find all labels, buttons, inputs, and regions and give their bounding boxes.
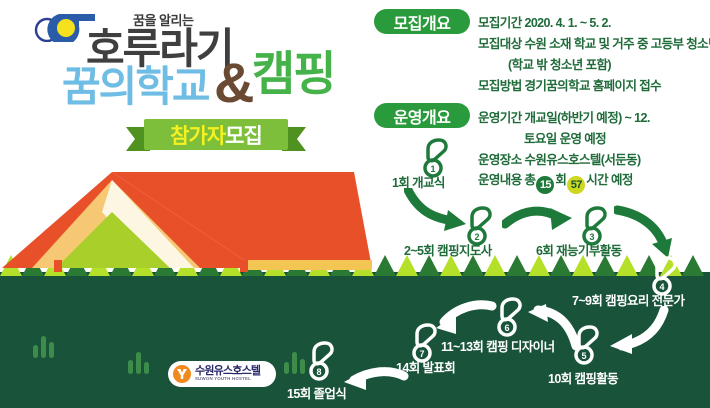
grass-tuft-3 [284,352,310,374]
recruit-line-2: 모집대상 수원 소재 학교 및 거주 중 고등부 청소년 [478,33,710,52]
ribbon-body: 참가자모집 [144,119,288,150]
recruit-section-pill: 모집개요 [374,9,470,34]
ampersand: & [214,55,254,111]
title-line-2: 꿈의학교 [62,66,209,108]
operate-line-2: 토요일 운영 예정 [524,128,606,147]
ribbon-rest-text: 모집 [225,125,262,148]
svg-text:8: 8 [316,367,321,377]
flow-arrow-6 [432,300,500,336]
operate-content-suffix: 시간 예정 [586,173,632,187]
title-line-3: 캠핑 [252,50,334,97]
suwon-youth-hostel-logo: 수원유스호스텔 SUWON YOUTH HOSTEL [168,361,276,387]
flow-label-8: 15회 졸업식 [287,383,346,402]
flow-label-4: 7~9회 캠핑요리 전문가 [572,290,684,309]
poster-root: 꿈을 알리는 호루라기 꿈의학교 & 캠핑 참가자모집 모집개요 운영개요 모집… [0,0,710,408]
operate-content-prefix: 운영내용 총 [478,173,535,187]
grass-tuft-2 [128,352,154,374]
svg-text:5: 5 [581,351,586,361]
operate-content-mid: 회 [555,173,566,187]
operate-section-pill: 운영개요 [374,103,470,128]
flow-arrow-2 [502,206,578,238]
recruit-line-3: (학교 밖 청소년 포함) [508,54,611,73]
operate-content-line: 운영내용 총15회57시간 예정 [478,169,633,194]
flow-pin-6: 6 [493,296,523,338]
operate-line-1: 운영기간 개교일(하반기 예정) ~ 12. [478,107,650,126]
hostel-mark-icon [173,365,191,383]
recruit-line-4: 모집방법 경기꿈의학교 홈페이지 접수 [478,75,661,94]
participant-recruit-ribbon: 참가자모집 [126,119,306,157]
operate-line-3: 운영장소 수원유스호스텔(서둔동) [478,149,641,168]
operate-hours-chip: 57 [567,176,585,194]
flow-pin-5: 5 [570,324,600,366]
hostel-name-english: SUWON YOUTH HOSTEL [195,377,260,382]
flow-label-2: 2~5회 캠핑지도사 [404,240,492,259]
flow-label-5: 10회 캠핑활동 [548,368,618,387]
operate-session-count-chip: 15 [536,176,554,194]
grass-tuft-1 [33,336,59,358]
flow-label-3: 6회 재능기부활동 [536,240,622,259]
flow-label-7: 14회 발표회 [396,357,455,376]
flow-label-6: 11~13회 캠핑 디자이너 [441,336,554,355]
recruit-line-1: 모집기간 2020. 4. 1. ~ 5. 2. [478,12,611,31]
flow-label-1: 1회 개교식 [392,172,445,191]
tent-illustration [0,168,374,278]
flow-arrow-4 [600,306,672,354]
ribbon-highlight-text: 참가자 [170,125,225,148]
flow-arrow-3 [614,204,678,260]
svg-text:6: 6 [504,323,509,333]
